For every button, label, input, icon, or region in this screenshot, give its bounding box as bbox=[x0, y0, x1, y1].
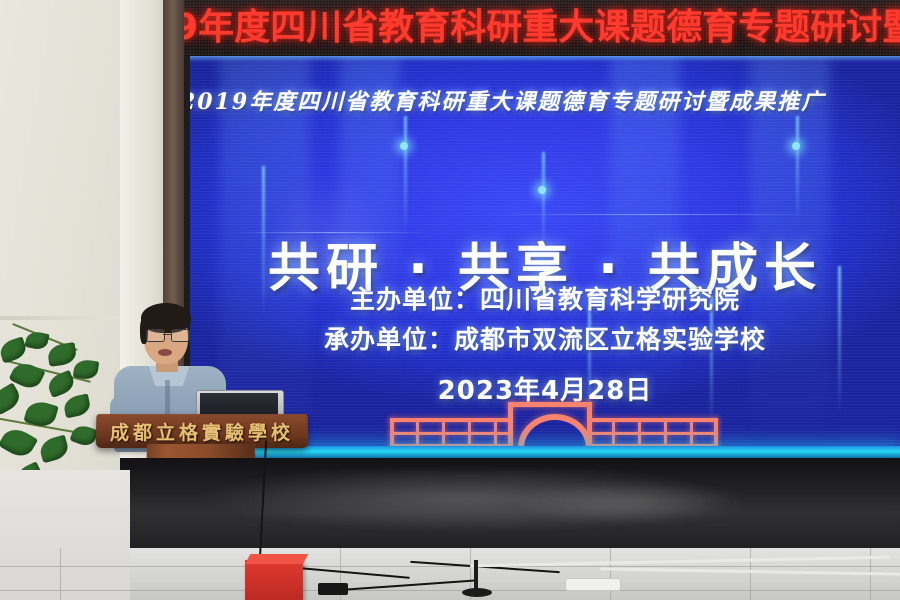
slide-title: 2019年度四川省教育科研重大课题德育专题研讨暨成果推广 bbox=[190, 84, 900, 116]
presentation-slide: 2019年度四川省教育科研重大课题德育专题研讨暨成果推广 共研 · 共享 · 共… bbox=[190, 56, 900, 456]
speaker-mouth bbox=[158, 349, 172, 356]
light-beam bbox=[404, 116, 407, 236]
led-banner-text: 2019年度四川省教育科研重大课题德育专题研讨暨成果推广 bbox=[184, 4, 900, 52]
tiled-floor bbox=[0, 548, 900, 600]
conference-photo-scene: 2019年度四川省教育科研重大课题德育专题研讨暨成果推广 2019年度四川省教育… bbox=[0, 0, 900, 600]
slide-host-line: 承办单位：成都市双流区立格实验学校 bbox=[190, 320, 900, 356]
floor-adapter-box bbox=[318, 583, 348, 595]
beam-glow-dot bbox=[538, 186, 546, 194]
power-strip bbox=[565, 578, 621, 591]
led-marquee-banner: 2019年度四川省教育科研重大课题德育专题研讨暨成果推广 bbox=[184, 0, 900, 56]
stage-skirt-reflection bbox=[480, 478, 780, 528]
slide-organizer-line: 主办单位：四川省教育科学研究院 bbox=[190, 280, 900, 316]
school-building-line-art bbox=[390, 392, 720, 454]
podium-nameplate: 成都立格實驗學校 bbox=[96, 418, 308, 445]
screen-top-glow bbox=[190, 56, 900, 62]
red-storage-box bbox=[245, 560, 303, 600]
microphone-base bbox=[462, 588, 492, 597]
beam-glow-dot bbox=[400, 142, 408, 150]
glasses-icon bbox=[146, 329, 188, 340]
red-storage-box-lid bbox=[245, 554, 308, 564]
light-beam bbox=[796, 116, 799, 226]
beam-glow-dot bbox=[792, 142, 800, 150]
tiled-floor-left bbox=[0, 470, 130, 600]
